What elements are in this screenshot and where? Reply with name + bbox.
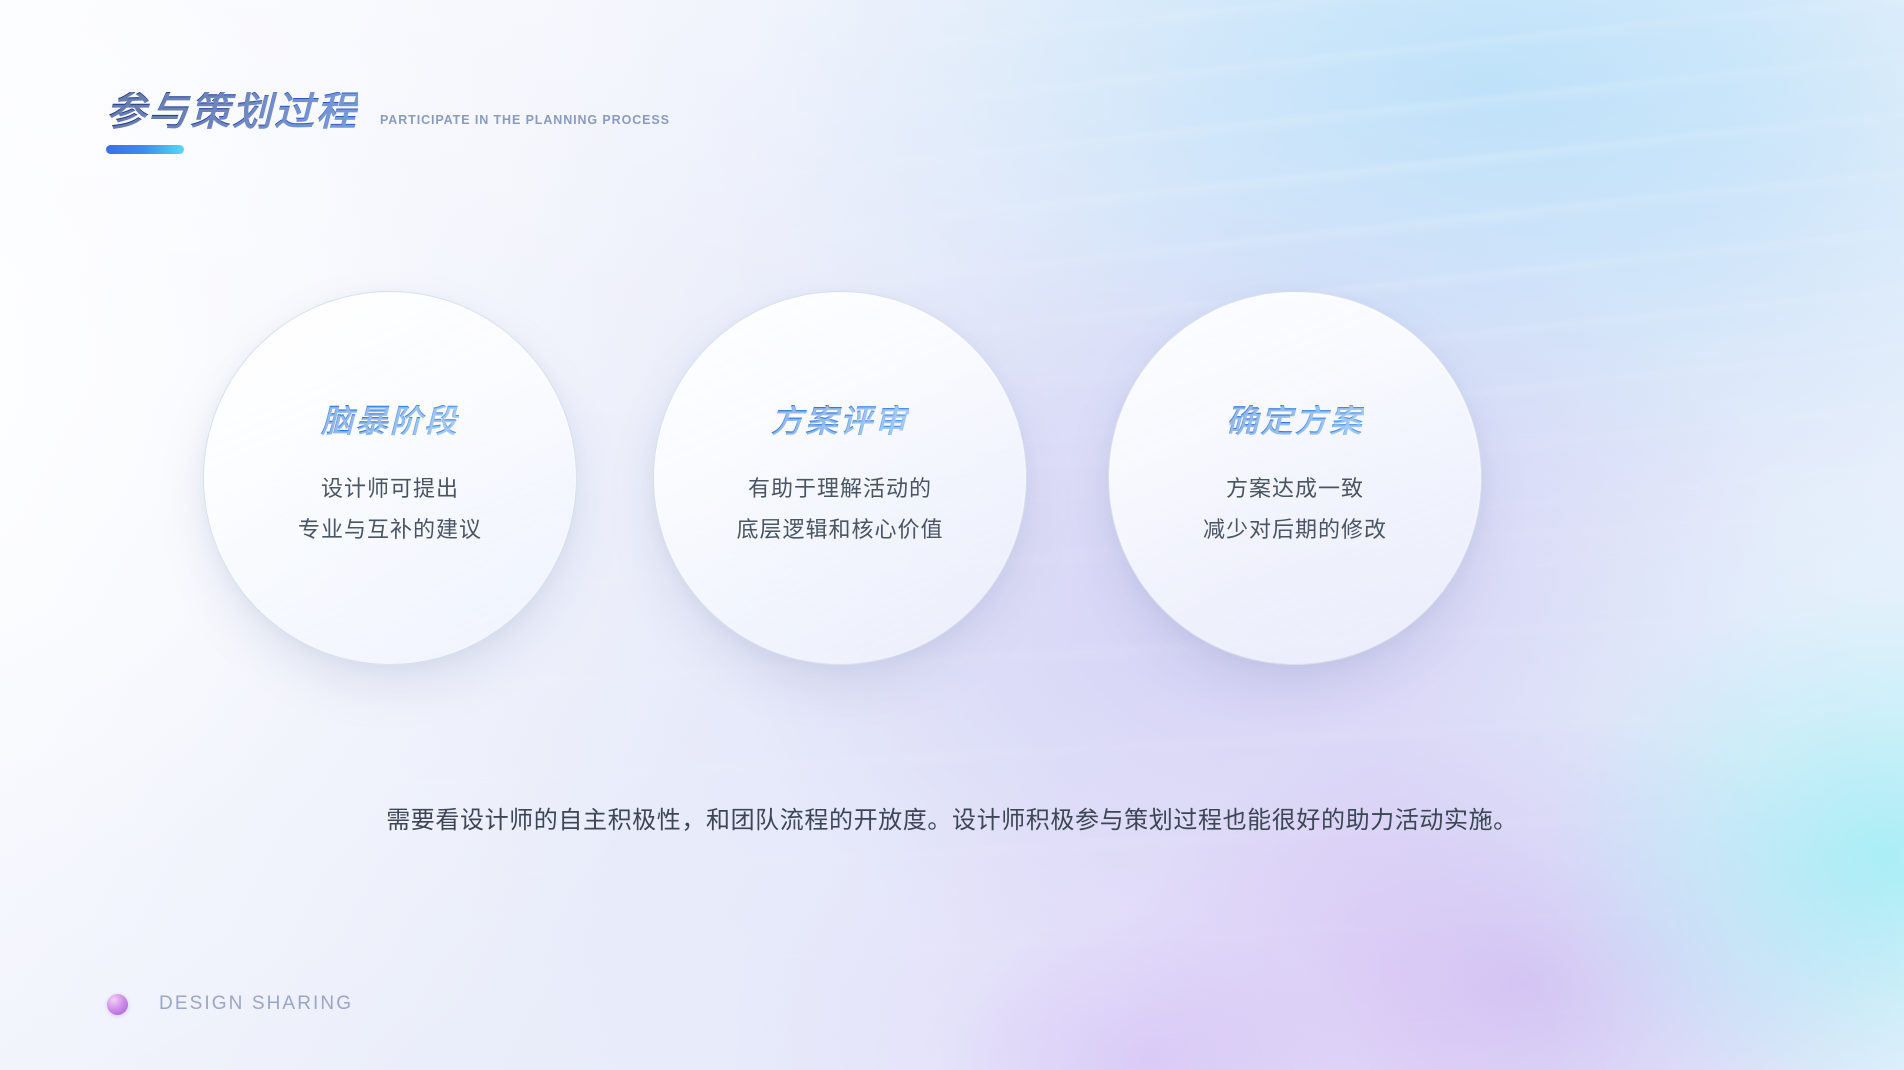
circle-body-1: 设计师可提出 专业与互补的建议 [298,469,482,550]
circle-body-line-2: 专业与互补的建议 [298,510,482,551]
slide-footer: DESIGN SHARING [107,993,353,1015]
circle-group: 脑暴阶段 设计师可提出 专业与互补的建议 方案评审 有助于理解活动的 底层逻辑和… [0,0,1904,1070]
footer-label: DESIGN SHARING [159,993,353,1015]
circle-card-3[interactable]: 确定方案 方案达成一致 减少对后期的修改 [1108,291,1482,665]
slide-canvas: 参与策划过程 PARTICIPATE IN THE PLANNING PROCE… [0,0,1904,1070]
circle-body-line-1: 方案达成一致 [1203,469,1387,510]
circle-title-1: 脑暴阶段 [321,405,459,437]
sphere-icon [107,994,128,1015]
circle-body-line-2: 减少对后期的修改 [1203,510,1387,551]
circle-body-line-1: 设计师可提出 [298,469,482,510]
circle-body-2: 有助于理解活动的 底层逻辑和核心价值 [736,469,943,550]
circle-card-2[interactable]: 方案评审 有助于理解活动的 底层逻辑和核心价值 [653,291,1027,665]
circle-card-1[interactable]: 脑暴阶段 设计师可提出 专业与互补的建议 [203,291,577,665]
circle-body-3: 方案达成一致 减少对后期的修改 [1203,469,1387,550]
circle-body-line-1: 有助于理解活动的 [736,469,943,510]
circle-title-2: 方案评审 [771,405,909,437]
circle-body-line-2: 底层逻辑和核心价值 [736,510,943,551]
summary-caption: 需要看设计师的自主积极性，和团队流程的开放度。设计师积极参与策划过程也能很好的助… [0,800,1904,835]
circle-title-3: 确定方案 [1226,405,1364,437]
